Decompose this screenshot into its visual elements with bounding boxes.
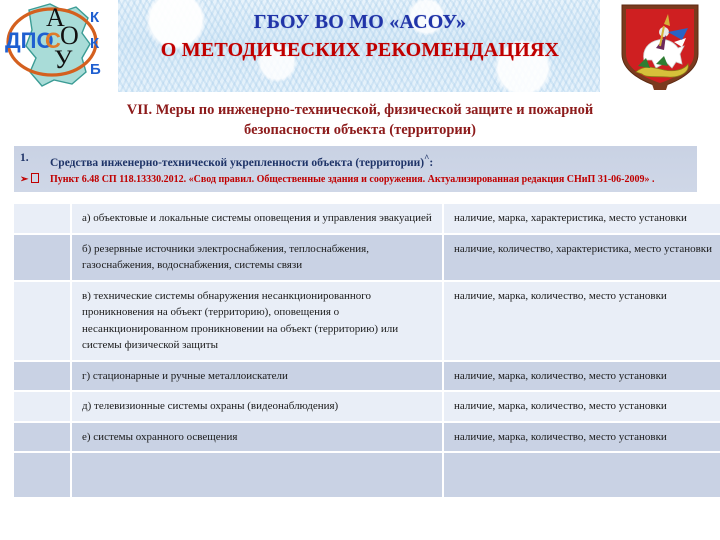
filler-value-cell bbox=[443, 452, 720, 498]
row-value-cell: наличие, количество, характеристика, мес… bbox=[443, 234, 720, 281]
row-number-cell bbox=[14, 234, 71, 281]
row-description-cell: е) системы охранного освещения bbox=[71, 422, 443, 453]
table-row-filler bbox=[14, 452, 720, 498]
row-value-cell: наличие, марка, количество, место устано… bbox=[443, 391, 720, 422]
page-title: VII. Меры по инженерно-технической, физи… bbox=[40, 100, 680, 140]
intro-number: 1. bbox=[20, 151, 50, 166]
row-description-cell: г) стационарные и ручные металлоискатели bbox=[71, 361, 443, 392]
table-row[interactable]: г) стационарные и ручные металлоискатели… bbox=[14, 361, 720, 392]
row-description-cell: д) телевизионные системы охраны (видеона… bbox=[71, 391, 443, 422]
table-row[interactable]: а) объектовые и локальные системы оповещ… bbox=[14, 204, 720, 234]
row-number-cell bbox=[14, 204, 71, 234]
row-value-cell: наличие, марка, характеристика, место ус… bbox=[443, 204, 720, 234]
intro-reference: Пункт 6.48 СП 118.13330.2012. «Свод прав… bbox=[50, 173, 689, 187]
section-heading-line1: VII. Меры по инженерно-технической, физи… bbox=[40, 100, 680, 120]
intro-title: Средства инженерно-технической укрепленн… bbox=[50, 151, 691, 171]
filler-number-cell bbox=[14, 452, 71, 498]
table-body: а) объектовые и локальные системы оповещ… bbox=[14, 204, 720, 498]
section-heading-line2: безопасности объекта (территории) bbox=[40, 120, 680, 140]
svg-text:Б: Б bbox=[90, 61, 101, 78]
row-value-cell: наличие, марка, количество, место устано… bbox=[443, 422, 720, 453]
row-number-cell bbox=[14, 391, 71, 422]
intro-title-row: 1. Средства инженерно-технической укрепл… bbox=[14, 150, 697, 171]
table-row[interactable]: б) резервные источники электроснабжения,… bbox=[14, 234, 720, 281]
intro-reference-line1: Пункт 6.48 СП 118.13330.2012. «Свод прав… bbox=[50, 174, 564, 185]
requirements-table: а) объектовые и локальные системы оповещ… bbox=[14, 204, 720, 499]
row-description-cell: в) технические системы обнаружения несан… bbox=[71, 281, 443, 361]
row-description-cell: б) резервные источники электроснабжения,… bbox=[71, 234, 443, 281]
table-row[interactable]: е) системы охранного освещения наличие, … bbox=[14, 422, 720, 453]
slide-header: ДПО С А О У К К Б ГБОУ ВО МО «АСОУ» О МЕ… bbox=[0, 0, 720, 92]
table-row[interactable]: в) технические системы обнаружения несан… bbox=[14, 281, 720, 361]
intro-title-tail: : bbox=[429, 157, 433, 169]
missing-glyph-box-icon bbox=[31, 173, 39, 183]
bullet-arrow-icon: ➢ bbox=[20, 173, 50, 187]
row-number-cell bbox=[14, 361, 71, 392]
row-number-cell bbox=[14, 281, 71, 361]
intro-reference-row: ➢ Пункт 6.48 СП 118.13330.2012. «Свод пр… bbox=[14, 171, 697, 187]
row-value-cell: наличие, марка, количество, место устано… bbox=[443, 361, 720, 392]
bullet-glyph: ➢ bbox=[20, 174, 28, 185]
row-description-cell: а) объектовые и локальные системы оповещ… bbox=[71, 204, 443, 234]
intro-title-text: Средства инженерно-технической укрепленн… bbox=[50, 157, 424, 169]
table-row[interactable]: д) телевизионные системы охраны (видеона… bbox=[14, 391, 720, 422]
moscow-oblast-coat-of-arms-icon bbox=[608, 2, 712, 92]
row-number-cell bbox=[14, 422, 71, 453]
intro-block: 1. Средства инженерно-технической укрепл… bbox=[14, 146, 697, 192]
row-value-cell: наличие, марка, количество, место устано… bbox=[443, 281, 720, 361]
filler-description-cell bbox=[71, 452, 443, 498]
intro-reference-line2: СНиП 31-06-2009» . bbox=[567, 174, 655, 185]
